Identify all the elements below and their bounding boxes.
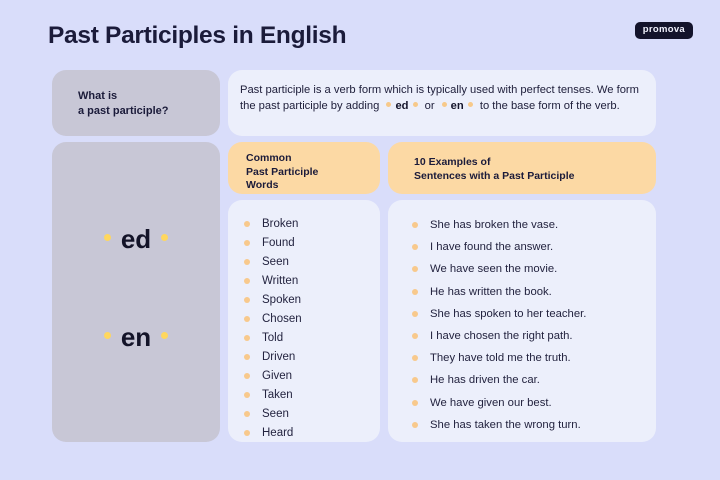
sentences-card: She has broken the vase.I have found the… <box>388 200 656 442</box>
bullet-icon <box>412 311 418 317</box>
list-item: Taken <box>244 385 302 404</box>
sentence-label: I have found the answer. <box>430 241 553 253</box>
promova-logo: promova <box>635 22 693 39</box>
list-item: He has written the book. <box>412 281 586 303</box>
inline-affix-ed: ed <box>395 100 408 112</box>
list-item: Spoken <box>244 290 302 309</box>
dot-icon <box>386 102 391 107</box>
sentence-label: He has driven the car. <box>430 374 540 386</box>
list-item: Heard <box>244 423 302 442</box>
word-label: Given <box>262 370 292 382</box>
bullet-icon <box>412 355 418 361</box>
bullet-icon <box>244 278 250 284</box>
sentence-label: She has spoken to her teacher. <box>430 308 586 320</box>
sentence-label: We have seen the movie. <box>430 263 557 275</box>
sentence-label: We have given our best. <box>430 397 552 409</box>
list-item: Told <box>244 328 302 347</box>
list-item: Given <box>244 366 302 385</box>
bullet-icon <box>244 240 250 246</box>
affix-label-en: en <box>121 322 151 352</box>
sentence-label: They have told me the truth. <box>430 352 571 364</box>
sentences-header-card: 10 Examples of Sentences with a Past Par… <box>388 142 656 194</box>
sentences-heading: 10 Examples of Sentences with a Past Par… <box>414 156 574 183</box>
list-item: She has taken the wrong turn. <box>412 414 586 436</box>
question-label: What is a past participle? <box>78 89 168 119</box>
list-item: Written <box>244 271 302 290</box>
bullet-icon <box>244 316 250 322</box>
dot-icon <box>104 234 111 241</box>
question-card: What is a past participle? <box>52 70 220 136</box>
list-item: Found <box>244 233 302 252</box>
list-item: She has spoken to her teacher. <box>412 303 586 325</box>
sentence-label: She has broken the vase. <box>430 219 558 231</box>
word-label: Found <box>262 237 295 249</box>
list-item: I have chosen the right path. <box>412 325 586 347</box>
bullet-icon <box>244 430 250 436</box>
affix-item-en: en <box>52 322 220 353</box>
sentences-list: She has broken the vase.I have found the… <box>412 214 586 436</box>
list-item: We have seen the movie. <box>412 258 586 280</box>
words-header-card: Common Past Participle Words <box>228 142 380 194</box>
bullet-icon <box>244 259 250 265</box>
affix-label-ed: ed <box>121 224 151 254</box>
bullet-icon <box>244 411 250 417</box>
list-item: They have told me the truth. <box>412 347 586 369</box>
word-label: Spoken <box>262 294 301 306</box>
sentence-label: I have chosen the right path. <box>430 330 573 342</box>
bullet-icon <box>412 400 418 406</box>
affix-panel: ed en <box>52 142 220 442</box>
list-item: Driven <box>244 347 302 366</box>
bullet-icon <box>244 221 250 227</box>
definition-text: Past participle is a verb form which is … <box>240 83 644 114</box>
inline-affix-en: en <box>451 100 464 112</box>
word-label: Heard <box>262 427 293 439</box>
bullet-icon <box>244 335 250 341</box>
word-label: Seen <box>262 408 289 420</box>
dot-icon <box>161 332 168 339</box>
page-header: Past Participles in English promova <box>0 0 720 62</box>
bullet-icon <box>412 333 418 339</box>
bullet-icon <box>244 354 250 360</box>
words-heading: Common Past Participle Words <box>246 152 318 193</box>
words-list: BrokenFoundSeenWrittenSpokenChosenToldDr… <box>244 214 302 442</box>
list-item: Seen <box>244 404 302 423</box>
bullet-icon <box>244 392 250 398</box>
word-label: Seen <box>262 256 289 268</box>
word-label: Written <box>262 275 298 287</box>
list-item: I have found the answer. <box>412 236 586 258</box>
dot-icon <box>468 102 473 107</box>
list-item: We have given our best. <box>412 392 586 414</box>
sentence-label: He has written the book. <box>430 286 552 298</box>
list-item: Chosen <box>244 309 302 328</box>
bullet-icon <box>244 373 250 379</box>
word-label: Told <box>262 332 283 344</box>
definition-text-after: to the base form of the verb. <box>480 100 620 112</box>
dot-icon <box>104 332 111 339</box>
dot-icon <box>413 102 418 107</box>
sentence-label: She has taken the wrong turn. <box>430 419 581 431</box>
page-title: Past Participles in English <box>48 22 346 50</box>
bullet-icon <box>412 222 418 228</box>
definition-conjunction: or <box>425 100 435 112</box>
bullet-icon <box>412 377 418 383</box>
word-label: Chosen <box>262 313 302 325</box>
word-label: Broken <box>262 218 298 230</box>
bullet-icon <box>412 266 418 272</box>
list-item: She has broken the vase. <box>412 214 586 236</box>
dot-icon <box>442 102 447 107</box>
list-item: He has driven the car. <box>412 369 586 391</box>
affix-item-ed: ed <box>52 224 220 255</box>
bullet-icon <box>412 244 418 250</box>
list-item: Broken <box>244 214 302 233</box>
bullet-icon <box>244 297 250 303</box>
definition-card: Past participle is a verb form which is … <box>228 70 656 136</box>
list-item: Seen <box>244 252 302 271</box>
bullet-icon <box>412 422 418 428</box>
word-label: Driven <box>262 351 295 363</box>
dot-icon <box>161 234 168 241</box>
bullet-icon <box>412 289 418 295</box>
words-card: BrokenFoundSeenWrittenSpokenChosenToldDr… <box>228 200 380 442</box>
word-label: Taken <box>262 389 293 401</box>
